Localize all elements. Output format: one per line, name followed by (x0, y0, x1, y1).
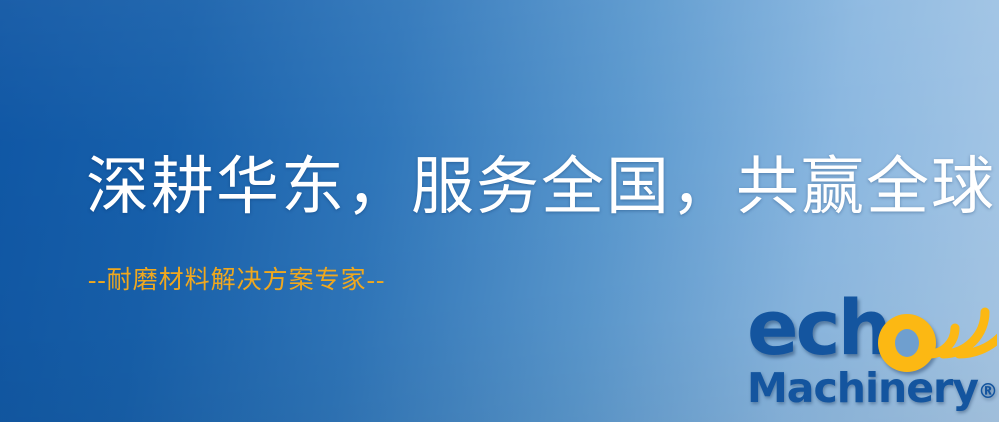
logo-wordmark: ech (745, 296, 995, 374)
logo-tagline: Machinery® (747, 368, 998, 409)
banner-headline: 深耕华东，服务全国，共赢全球 (86, 156, 996, 219)
logo-tagline-text: Machinery (747, 364, 978, 412)
banner-subtitle: --耐磨材料解决方案专家-- (88, 268, 385, 293)
echo-machinery-logo: ech Machinery® (745, 296, 995, 422)
promo-banner: 深耕华东，服务全国，共赢全球 --耐磨材料解决方案专家-- ech Machin… (0, 0, 999, 422)
logo-wordmark-text: ech (747, 290, 889, 366)
logo-signal-waves-icon (923, 292, 997, 366)
registered-trademark-icon: ® (978, 379, 998, 403)
